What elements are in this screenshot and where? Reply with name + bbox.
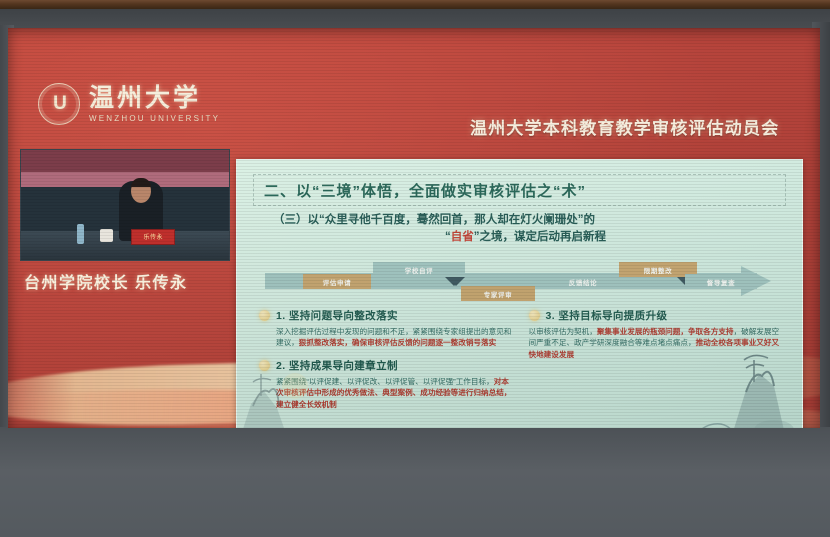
process-stage-6: 督导复查 <box>685 274 757 289</box>
speaker-caption: 台州学院校长 乐传永 <box>24 269 187 293</box>
slide-item-left-1: 1. 坚持问题导向整改落实深入挖掘评估过程中发现的问题和不足，紧紧围绕专家组提出… <box>259 308 515 349</box>
slide-content-blocks: 1. 坚持问题导向整改落实深入挖掘评估过程中发现的问题和不足，紧紧围绕专家组提出… <box>259 308 784 419</box>
slide-item-left-2: 2. 坚持成果导向建章立制紧紧围绕“以评促建、以评促改、以评促管、以评促强”工作… <box>259 358 515 410</box>
speaker-video-thumbnail: 乐传永 <box>20 149 230 261</box>
bullet-dot-icon <box>259 310 270 321</box>
process-stage-4: 反馈结论 <box>535 274 631 289</box>
wall-lower <box>0 427 830 537</box>
body-text-plain: 以审核评估为契机， <box>529 327 597 336</box>
subtitle-rest: ”之境，谋定后动再启新程 <box>474 231 606 243</box>
slide-column-left: 1. 坚持问题导向整改落实深入挖掘评估过程中发现的问题和不足，紧紧围绕专家组提出… <box>259 308 515 419</box>
ceiling-trim <box>0 0 830 9</box>
body-text-plain: 紧紧围绕“以评促建、以评促改、以评促管、以评促强”工作目标， <box>276 377 494 386</box>
university-logo: U 温州大学 WENZHOU UNIVERSITY <box>38 83 220 125</box>
screenshot-root: U 温州大学 WENZHOU UNIVERSITY 温州大学本科教育教学审核评估… <box>0 0 830 537</box>
presentation-slide: 二、以“三境”体悟，全面做实审核评估之“术” （三）以“众里寻他千百度，蓦然回首… <box>236 159 803 428</box>
process-stage-3: 专家评审 <box>461 286 535 301</box>
slide-item-header: 3. 坚持目标导向提质升级 <box>529 308 785 323</box>
body-text-emphasis: 狠抓整改落实，确保审核评估反馈的问题逐一整改销号落实 <box>299 338 496 347</box>
event-title: 温州大学本科教育教学审核评估动员会 <box>470 114 779 139</box>
slide-item-right-1: 3. 坚持目标导向提质升级以审核评估为契机，聚集事业发展的瓶颈问题，争取各方支持… <box>529 308 785 360</box>
slide-heading-box: 二、以“三境”体悟，全面做实审核评估之“术” <box>253 174 786 206</box>
slide-subtitle: （三）以“众里寻他千百度，蓦然回首，那人却在灯火阑珊处”的 “自省”之境，谋定后… <box>273 212 778 245</box>
process-stage-2: 学校自评 <box>373 262 465 277</box>
slide-column-right: 3. 坚持目标导向提质升级以审核评估为契机，聚集事业发展的瓶颈问题，争取各方支持… <box>529 308 785 419</box>
slide-item-body: 深入挖掘评估过程中发现的问题和不足，紧紧围绕专家组提出的意见和建议，狠抓整改落实… <box>276 326 515 349</box>
slide-item-title: 3. 坚持目标导向提质升级 <box>546 308 668 323</box>
university-name-en: WENZHOU UNIVERSITY <box>89 115 220 123</box>
university-logo-text: 温州大学 WENZHOU UNIVERSITY <box>89 86 220 123</box>
university-name-cn: 温州大学 <box>89 86 220 111</box>
slide-item-body: 以审核评估为契机，聚集事业发展的瓶颈问题，争取各方支持，破解发展空间严重不足、政… <box>529 326 785 360</box>
university-emblem-icon: U <box>38 83 80 125</box>
process-notch-3 <box>447 277 465 286</box>
video-nameplate: 乐传永 <box>131 229 175 245</box>
video-tea-cup <box>100 229 113 242</box>
slide-item-title: 1. 坚持问题导向整改落实 <box>276 308 398 323</box>
video-backdrop-top <box>21 150 229 172</box>
evaluation-process-arrow: 评估申请学校自评专家评审反馈结论限期整改督导复查 <box>265 264 777 298</box>
slide-item-body: 紧紧围绕“以评促建、以评促改、以评促管、以评促强”工作目标，对本次审核评估中形成… <box>276 376 515 410</box>
slide-subtitle-line1: （三）以“众里寻他千百度，蓦然回首，那人却在灯火阑珊处”的 <box>273 212 778 229</box>
slide-subtitle-line2: “自省”之境，谋定后动再启新程 <box>273 229 778 246</box>
led-display-screen: U 温州大学 WENZHOU UNIVERSITY 温州大学本科教育教学审核评估… <box>8 28 820 428</box>
slide-item-title: 2. 坚持成果导向建章立制 <box>276 358 398 373</box>
bullet-dot-icon <box>259 360 270 371</box>
subtitle-highlight: 自省 <box>451 231 474 243</box>
video-water-bottle <box>77 224 84 244</box>
slide-heading: 二、以“三境”体悟，全面做实审核评估之“术” <box>264 180 586 201</box>
body-text-emphasis: 聚集事业发展的瓶颈问题，争取各方支持 <box>597 327 734 336</box>
bullet-dot-icon <box>529 310 540 321</box>
slide-item-header: 1. 坚持问题导向整改落实 <box>259 308 515 323</box>
process-stage-1: 评估申请 <box>303 274 371 289</box>
slide-item-header: 2. 坚持成果导向建章立制 <box>259 358 515 373</box>
